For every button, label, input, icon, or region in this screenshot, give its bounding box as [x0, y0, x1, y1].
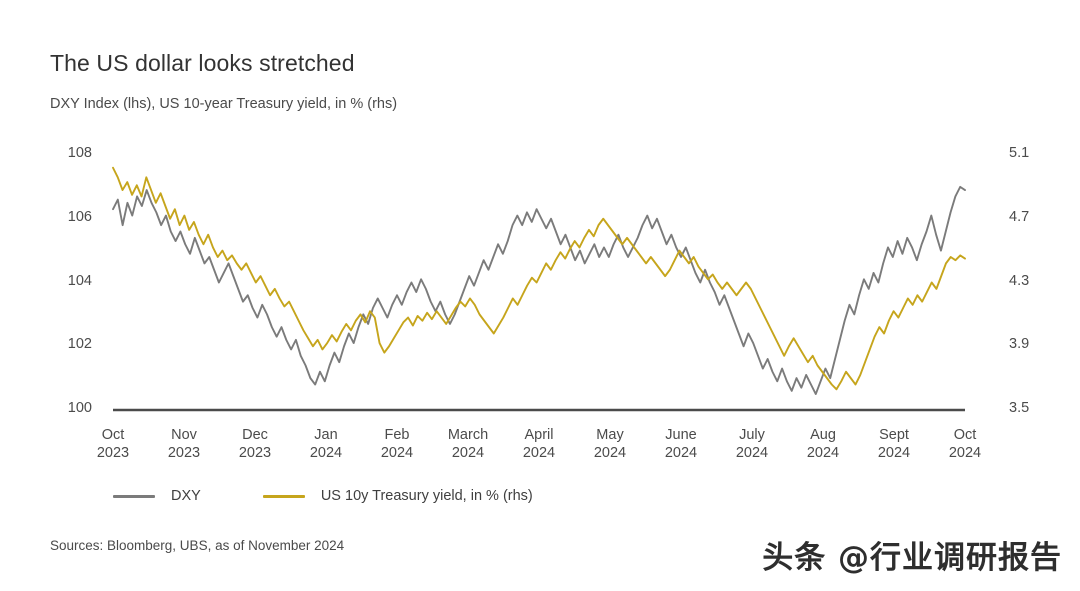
chart-legend: DXY US 10y Treasury yield, in % (rhs)	[113, 488, 533, 504]
y-axis-left-tick: 102	[46, 336, 92, 352]
x-axis-tick-year: 2024	[502, 444, 576, 462]
x-axis-tick-month: March	[431, 426, 505, 444]
x-axis-tick-month: Sept	[857, 426, 931, 444]
y-axis-right-tick: 4.7	[1009, 209, 1055, 225]
y-axis-left-tick: 100	[46, 400, 92, 416]
x-axis-tick-month: June	[644, 426, 718, 444]
x-axis-tick: Nov2023	[147, 426, 221, 462]
x-axis-tick-month: Aug	[786, 426, 860, 444]
x-axis-tick: Sept2024	[857, 426, 931, 462]
x-axis-tick-year: 2023	[218, 444, 292, 462]
chart-subtitle: DXY Index (lhs), US 10-year Treasury yie…	[50, 96, 397, 112]
y-axis-right-tick: 5.1	[1009, 145, 1055, 161]
x-axis-tick: June2024	[644, 426, 718, 462]
x-axis-tick: Aug2024	[786, 426, 860, 462]
y-axis-right-tick: 3.9	[1009, 336, 1055, 352]
y-axis-left-tick: 108	[46, 145, 92, 161]
y-axis-right-tick: 4.3	[1009, 273, 1055, 289]
x-axis-tick: April2024	[502, 426, 576, 462]
legend-swatch-dxy	[113, 495, 155, 498]
x-axis-tick: Feb2024	[360, 426, 434, 462]
x-axis-tick-month: Dec	[218, 426, 292, 444]
x-axis-tick-month: July	[715, 426, 789, 444]
x-axis-tick-year: 2024	[360, 444, 434, 462]
y-axis-left-tick: 106	[46, 209, 92, 225]
legend-label-yield: US 10y Treasury yield, in % (rhs)	[321, 488, 533, 504]
watermark: 头条 @行业调研报告	[762, 532, 1062, 577]
chart-page: The US dollar looks stretched DXY Index …	[0, 0, 1080, 591]
x-axis-tick-month: Feb	[360, 426, 434, 444]
x-axis-tick-year: 2024	[573, 444, 647, 462]
x-axis-tick-year: 2024	[786, 444, 860, 462]
x-axis-tick-month: April	[502, 426, 576, 444]
legend-item-dxy[interactable]: DXY	[113, 488, 201, 504]
page-title: The US dollar looks stretched	[50, 50, 355, 77]
x-axis-tick: May2024	[573, 426, 647, 462]
x-axis-tick-year: 2024	[289, 444, 363, 462]
x-axis-tick: July2024	[715, 426, 789, 462]
x-axis-tick-year: 2024	[431, 444, 505, 462]
x-axis-tick: Oct2024	[928, 426, 1002, 462]
x-axis-tick-month: May	[573, 426, 647, 444]
x-axis-tick-month: Nov	[147, 426, 221, 444]
x-axis-tick-month: Jan	[289, 426, 363, 444]
x-axis-tick-year: 2024	[857, 444, 931, 462]
x-axis-tick-year: 2023	[147, 444, 221, 462]
x-axis-tick-month: Oct	[76, 426, 150, 444]
x-axis-tick-year: 2023	[76, 444, 150, 462]
sources-note: Sources: Bloomberg, UBS, as of November …	[50, 538, 344, 553]
x-axis-tick: Dec2023	[218, 426, 292, 462]
series-line-yield	[113, 168, 965, 390]
legend-item-yield[interactable]: US 10y Treasury yield, in % (rhs)	[263, 488, 533, 504]
x-axis-tick-year: 2024	[928, 444, 1002, 462]
x-axis-tick: March2024	[431, 426, 505, 462]
x-axis-tick: Jan2024	[289, 426, 363, 462]
x-axis-tick-year: 2024	[644, 444, 718, 462]
legend-swatch-yield	[263, 495, 305, 498]
x-axis-tick-month: Oct	[928, 426, 1002, 444]
y-axis-right-tick: 3.5	[1009, 400, 1055, 416]
y-axis-left-tick: 104	[46, 273, 92, 289]
legend-label-dxy: DXY	[171, 488, 201, 504]
x-axis-tick-year: 2024	[715, 444, 789, 462]
series-line-dxy	[113, 187, 965, 394]
x-axis-tick: Oct2023	[76, 426, 150, 462]
